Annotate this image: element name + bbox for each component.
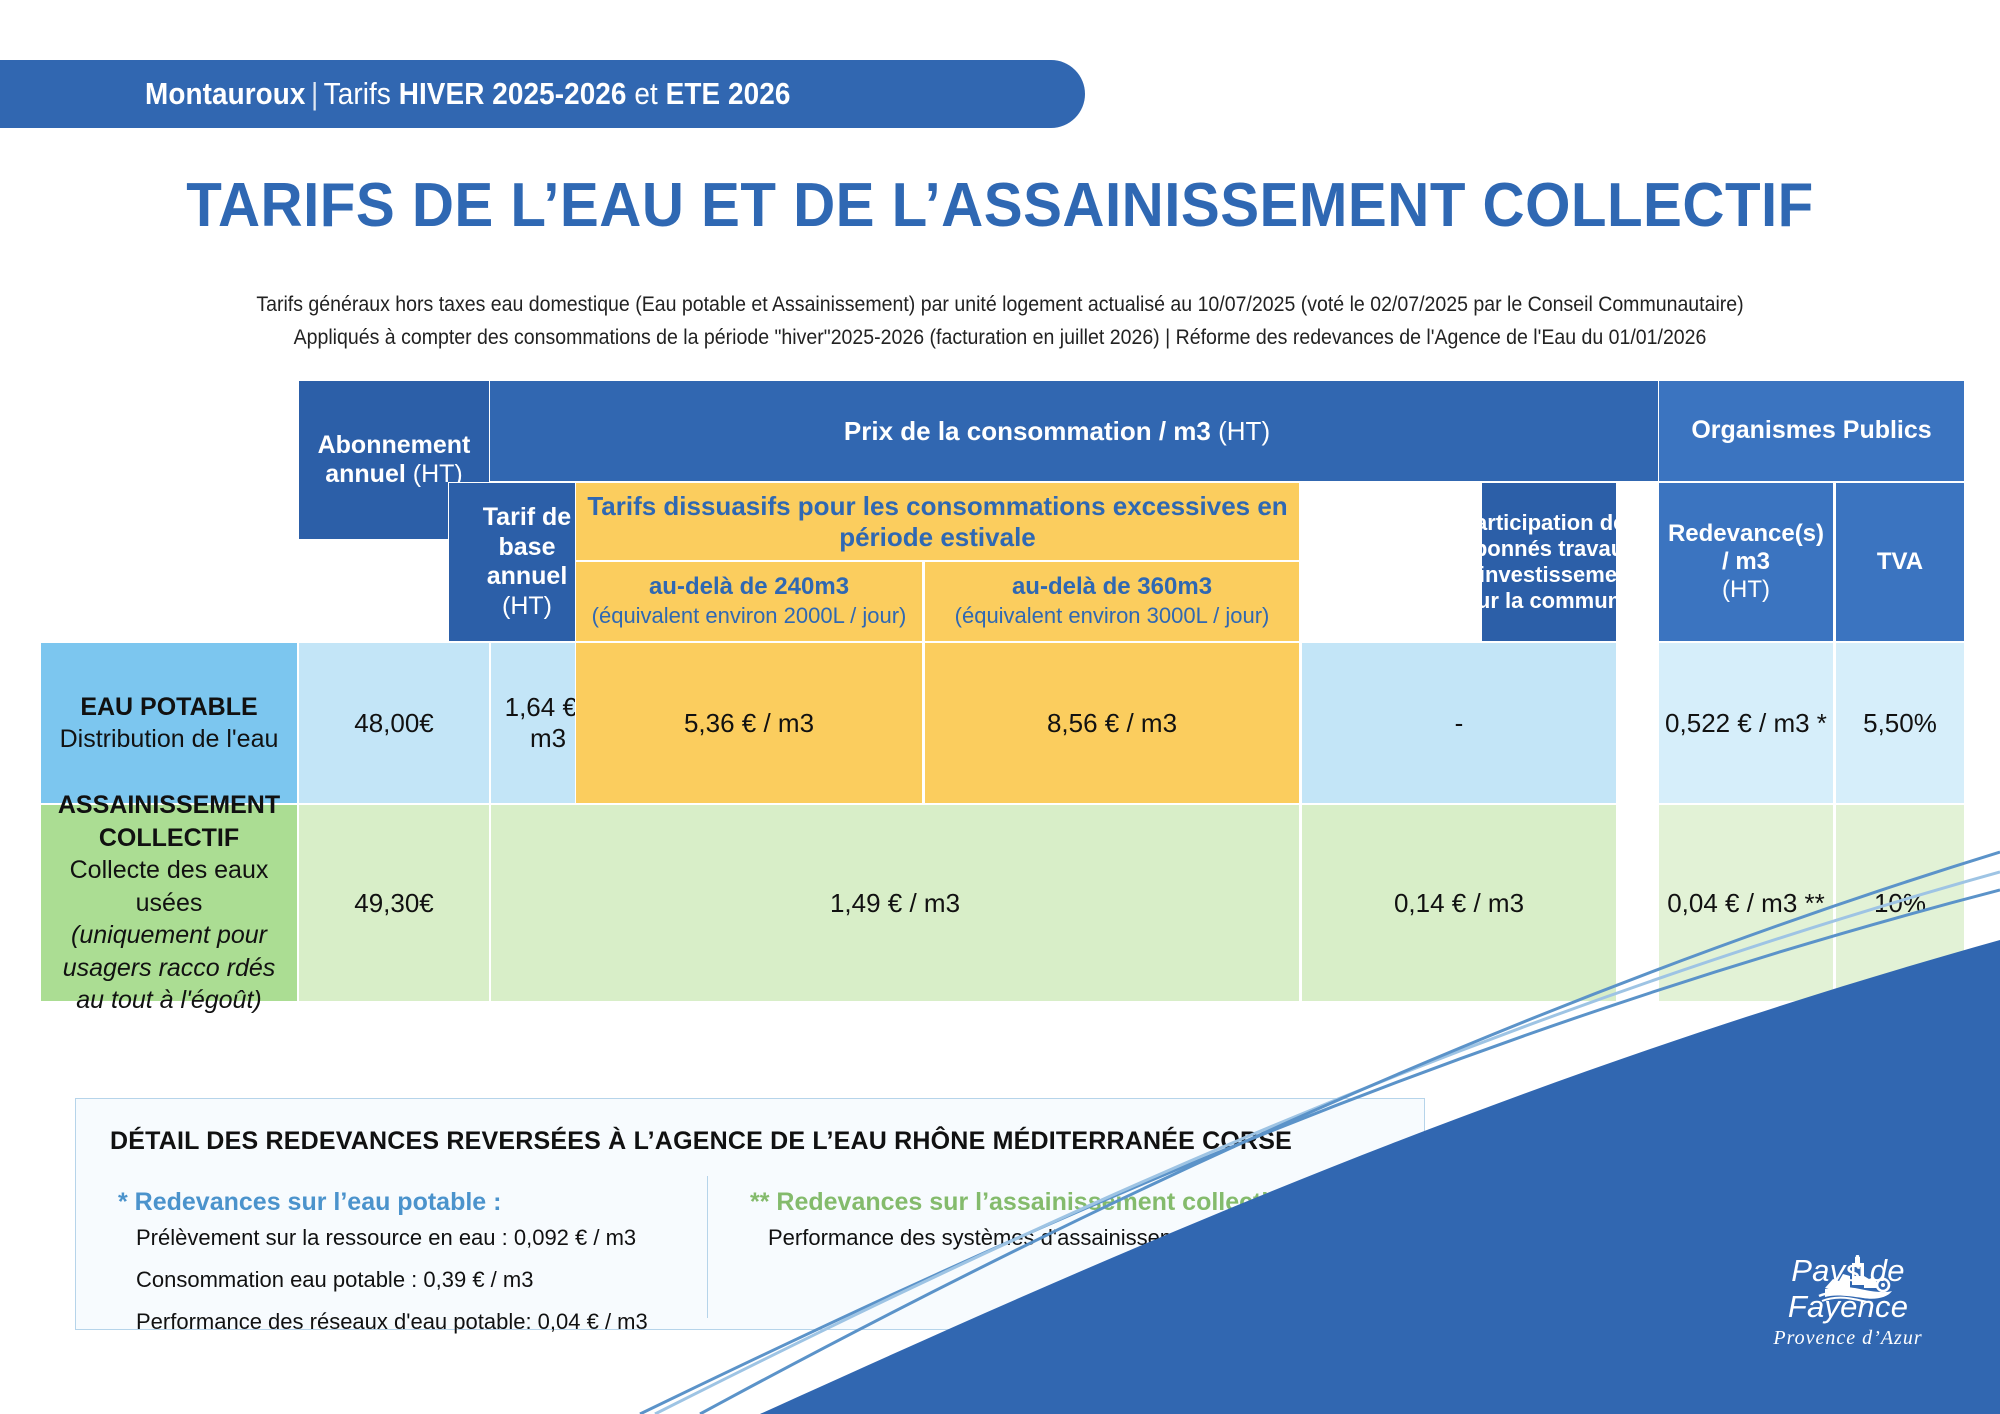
fees-detail-sewer-heading: ** Redevances sur l’assainissement colle… xyxy=(750,1188,1417,1217)
ribbon-prefix: Tarifs xyxy=(324,76,399,111)
page-title: TARIFS DE L’EAU ET DE L’ASSAINISSEMENT C… xyxy=(60,170,1940,241)
cell-water-vat: 5,50% xyxy=(1835,642,1965,804)
value-sewer-subscription: 49,30€ xyxy=(354,888,434,919)
header-tier2: au-delà de 360m3 (équivalent environ 300… xyxy=(924,561,1300,642)
fees-detail-column-water: * Redevances sur l’eau potable : Prélève… xyxy=(118,1188,648,1343)
pays-de-fayence-logo: Pays de Fayence Provence d’Azur xyxy=(1733,1253,1963,1350)
header-public-bodies: Organismes Publics xyxy=(1658,380,1965,482)
row-water-title: EAU POTABLE xyxy=(60,691,279,724)
row-sewer-title: ASSAINISSEMENT COLLECTIF xyxy=(49,789,289,854)
value-sewer-vat: 10% xyxy=(1874,888,1926,919)
logo-name: Pays de Fayence xyxy=(1733,1253,1963,1325)
header-consumption-ht: (HT) xyxy=(1218,416,1270,446)
list-item: Performance des réseaux d'eau potable: 0… xyxy=(136,1301,648,1343)
value-sewer-participation: 0,14 € / m3 xyxy=(1394,888,1524,919)
row-sewer-note: (uniquement pour usagers racco rdés au t… xyxy=(49,919,289,1017)
row-sewer-sub: Collecte des eaux usées xyxy=(70,856,269,917)
header-public-bodies-label: Organismes Publics xyxy=(1685,412,1937,450)
header-tier1: au-delà de 240m3 (équivalent environ 200… xyxy=(575,561,923,642)
subtitle-block: Tarifs généraux hors taxes eau domestiqu… xyxy=(0,288,2000,354)
fees-detail-title: DÉTAIL DES REDEVANCES REVERSÉES À L’AGEN… xyxy=(110,1127,1292,1156)
value-water-subscription: 48,00€ xyxy=(354,708,434,739)
fees-detail-water-heading: * Redevances sur l’eau potable : xyxy=(118,1188,648,1217)
header-tier2-equiv: (équivalent environ 3000L / jour) xyxy=(955,603,1270,628)
subtitle-line-2: Appliqués à compter des consommations de… xyxy=(70,321,1930,354)
header-vat-label: TVA xyxy=(1871,544,1929,580)
cell-water-fees: 0,522 € / m3 * xyxy=(1658,642,1834,804)
row-water-sub: Distribution de l'eau xyxy=(60,725,279,753)
list-item: Consommation eau potable : 0,39 € / m3 xyxy=(136,1259,648,1301)
cell-water-tier1: 5,36 € / m3 xyxy=(575,642,923,804)
header-tier1-label: au-delà de 240m3 xyxy=(649,573,849,600)
fees-detail-column-sewer: ** Redevances sur l’assainissement colle… xyxy=(750,1188,1417,1259)
header-consumption-group: Prix de la consommation / m3 (HT) xyxy=(448,380,1666,482)
header-dissuasive-group: Tarifs dissuasifs pour les consommations… xyxy=(575,482,1300,561)
value-water-tier1: 5,36 € / m3 xyxy=(684,708,814,739)
ribbon-separator: | xyxy=(306,76,324,111)
header-participation: Participation des abonnés travaux d'inve… xyxy=(1481,482,1617,642)
value-sewer-merged-rate: 1,49 € / m3 xyxy=(830,888,960,919)
cell-sewer-merged-rate: 1,49 € / m3 xyxy=(490,804,1300,1002)
ribbon-season-winter: HIVER 2025-2026 xyxy=(399,76,627,111)
cell-sewer-fees: 0,04 € / m3 ** xyxy=(1658,804,1834,1002)
ribbon-season-summer: ETE 2026 xyxy=(666,76,791,111)
header-fees: Redevance(s) / m3 (HT) xyxy=(1658,482,1834,642)
table-row-label-sewer: ASSAINISSEMENT COLLECTIF Collecte des ea… xyxy=(40,804,298,1002)
header-fees-label: Redevance(s) / m3 xyxy=(1668,520,1824,575)
value-sewer-fees: 0,04 € / m3 ** xyxy=(1667,888,1825,919)
header-dissuasive-label: Tarifs dissuasifs pour les consommations… xyxy=(576,487,1299,556)
ribbon-title: Montauroux|Tarifs HIVER 2025-2026 et ETE… xyxy=(145,76,790,112)
table-row-label-water: EAU POTABLE Distribution de l'eau xyxy=(40,642,298,804)
header-consumption-label: Prix de la consommation / m3 xyxy=(844,416,1211,446)
subtitle-line-1: Tarifs généraux hors taxes eau domestiqu… xyxy=(70,288,1930,321)
value-water-tier2: 8,56 € / m3 xyxy=(1047,708,1177,739)
value-water-fees: 0,522 € / m3 * xyxy=(1665,708,1827,739)
header-base-rate-ht: (HT) xyxy=(502,592,552,620)
header-participation-label: Participation des abonnés travaux d'inve… xyxy=(1454,506,1644,618)
cell-sewer-participation: 0,14 € / m3 xyxy=(1301,804,1617,1002)
header-tier2-label: au-delà de 360m3 xyxy=(1012,573,1212,600)
cell-water-participation: - xyxy=(1301,642,1617,804)
header-ribbon: Montauroux|Tarifs HIVER 2025-2026 et ETE… xyxy=(0,60,1085,128)
ribbon-commune: Montauroux xyxy=(145,76,306,111)
header-base-rate-label: Tarif de base annuel xyxy=(483,503,571,590)
value-water-participation: - xyxy=(1455,708,1464,739)
value-water-vat: 5,50% xyxy=(1863,708,1937,739)
list-item: Performance des systèmes d'assainissemen… xyxy=(768,1217,1417,1259)
cell-sewer-subscription: 49,30€ xyxy=(298,804,490,1002)
cell-sewer-vat: 10% xyxy=(1835,804,1965,1002)
cell-water-subscription: 48,00€ xyxy=(298,642,490,804)
logo-tagline: Provence d’Azur xyxy=(1733,1327,1963,1350)
header-fees-ht: (HT) xyxy=(1722,576,1770,603)
fees-detail-divider xyxy=(707,1176,708,1318)
ribbon-conjunction: et xyxy=(627,76,666,111)
list-item: Prélèvement sur la ressource en eau : 0,… xyxy=(136,1217,648,1259)
header-vat: TVA xyxy=(1835,482,1965,642)
cell-water-tier2: 8,56 € / m3 xyxy=(924,642,1300,804)
header-tier1-equiv: (équivalent environ 2000L / jour) xyxy=(592,603,907,628)
